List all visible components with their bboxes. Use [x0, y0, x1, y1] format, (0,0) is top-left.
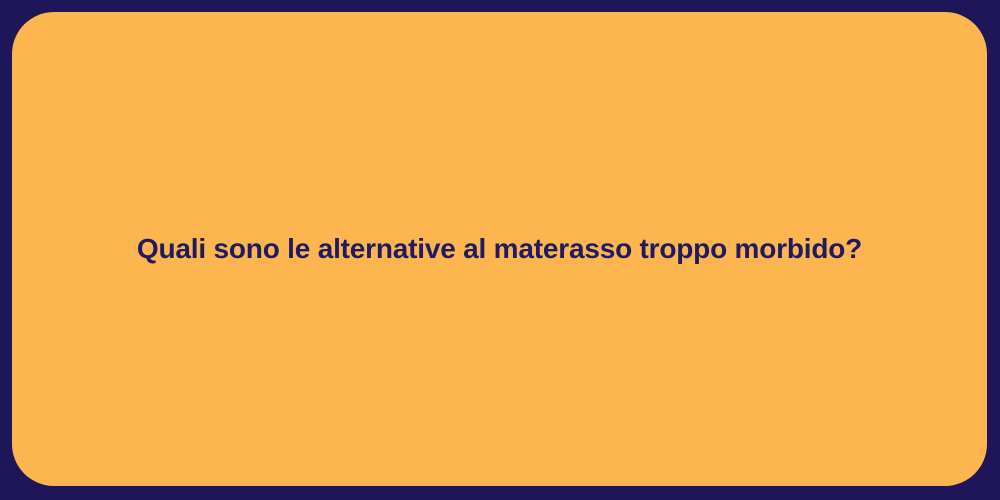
question-card-panel: Quali sono le alternative al materasso t…	[12, 12, 987, 486]
question-heading: Quali sono le alternative al materasso t…	[137, 231, 862, 267]
question-card-frame: Quali sono le alternative al materasso t…	[0, 0, 1000, 500]
